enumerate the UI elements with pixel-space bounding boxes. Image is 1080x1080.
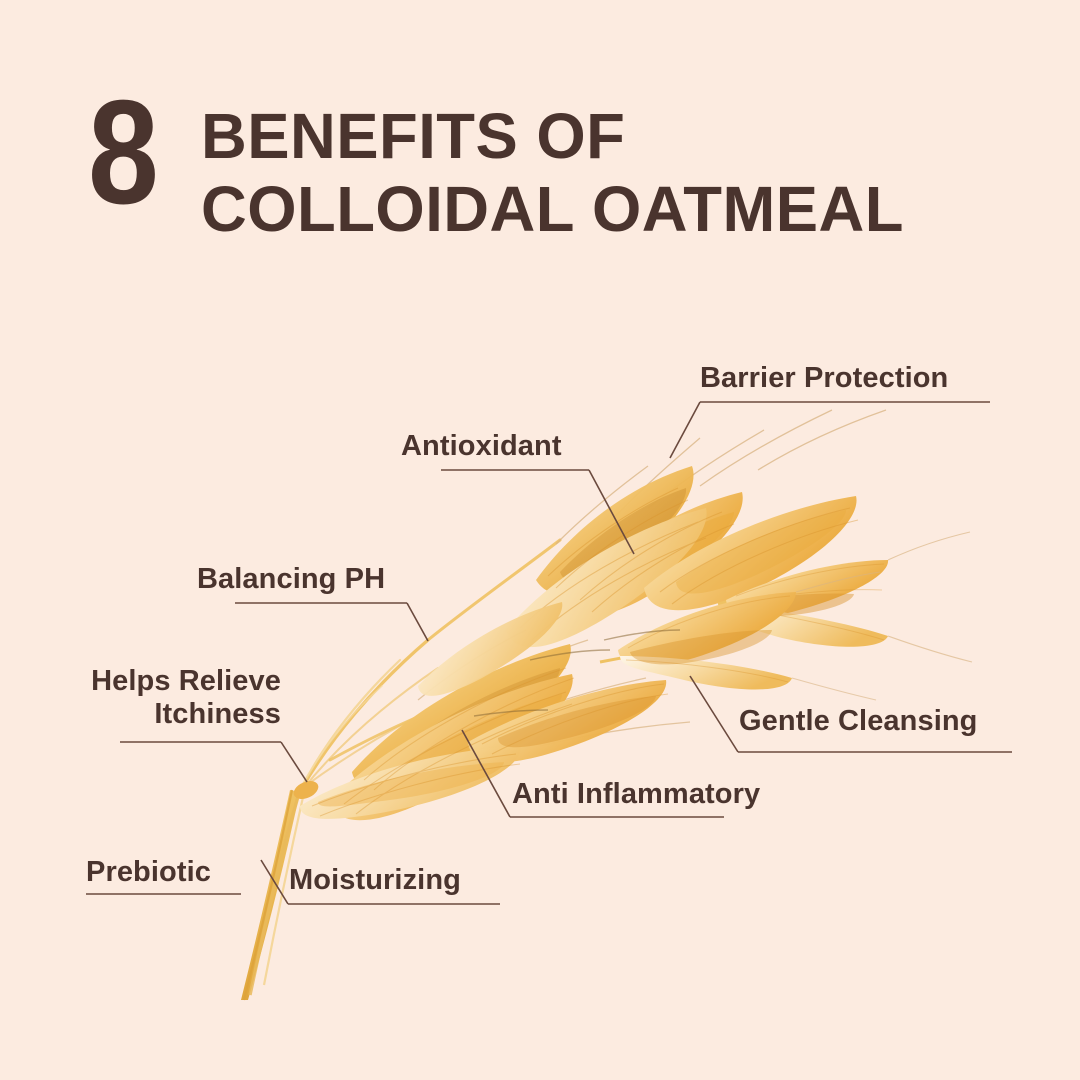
infographic-canvas: 8 BENEFITS OF COLLOIDAL OATMEAL [0, 0, 1080, 1080]
callout-helps-relieve-itchiness[interactable]: Helps RelieveItchiness [59, 665, 281, 731]
oat-cluster-right [718, 532, 972, 662]
callout-label-anti-inflammatory: Anti Inflammatory [512, 778, 760, 811]
oat-dark-accents [474, 630, 680, 716]
callout-label-prebiotic: Prebiotic [86, 856, 211, 889]
oat-cluster-middle [600, 572, 880, 700]
callout-label-balancing-ph: Balancing PH [197, 563, 385, 596]
callout-label-antioxidant: Antioxidant [401, 430, 562, 463]
callout-label-helps-relieve-itchiness: Helps RelieveItchiness [59, 665, 281, 731]
benefit-count-number: 8 [88, 92, 156, 213]
oat-cluster-upper [506, 410, 886, 647]
callout-barrier-protection[interactable]: Barrier Protection [700, 362, 948, 395]
title-line-2: COLLOIDAL OATMEAL [201, 173, 904, 246]
callout-label-barrier-protection: Barrier Protection [700, 362, 948, 395]
callout-label-moisturizing: Moisturizing [289, 864, 461, 897]
callout-leader-barrier-protection [670, 402, 700, 458]
callout-moisturizing[interactable]: Moisturizing [289, 864, 461, 897]
callout-leader-balancing-ph [407, 603, 428, 641]
callout-balancing-ph[interactable]: Balancing PH [197, 563, 385, 596]
callout-leader-helps-relieve-itchiness [281, 742, 307, 782]
callout-leader-gentle-cleansing [690, 676, 738, 752]
title-line-1: BENEFITS OF [201, 100, 904, 173]
title-text: BENEFITS OF COLLOIDAL OATMEAL [201, 92, 911, 246]
callout-gentle-cleansing[interactable]: Gentle Cleansing [739, 705, 978, 738]
callout-leader-moisturizing [261, 860, 288, 904]
callout-leader-antioxidant [589, 470, 634, 554]
callout-anti-inflammatory[interactable]: Anti Inflammatory [512, 778, 760, 811]
callout-label-gentle-cleansing: Gentle Cleansing [739, 705, 978, 738]
callout-antioxidant[interactable]: Antioxidant [401, 430, 562, 463]
callout-prebiotic[interactable]: Prebiotic [86, 856, 211, 889]
callout-leader-anti-inflammatory [462, 730, 510, 817]
title-block: 8 BENEFITS OF COLLOIDAL OATMEAL [88, 92, 911, 246]
